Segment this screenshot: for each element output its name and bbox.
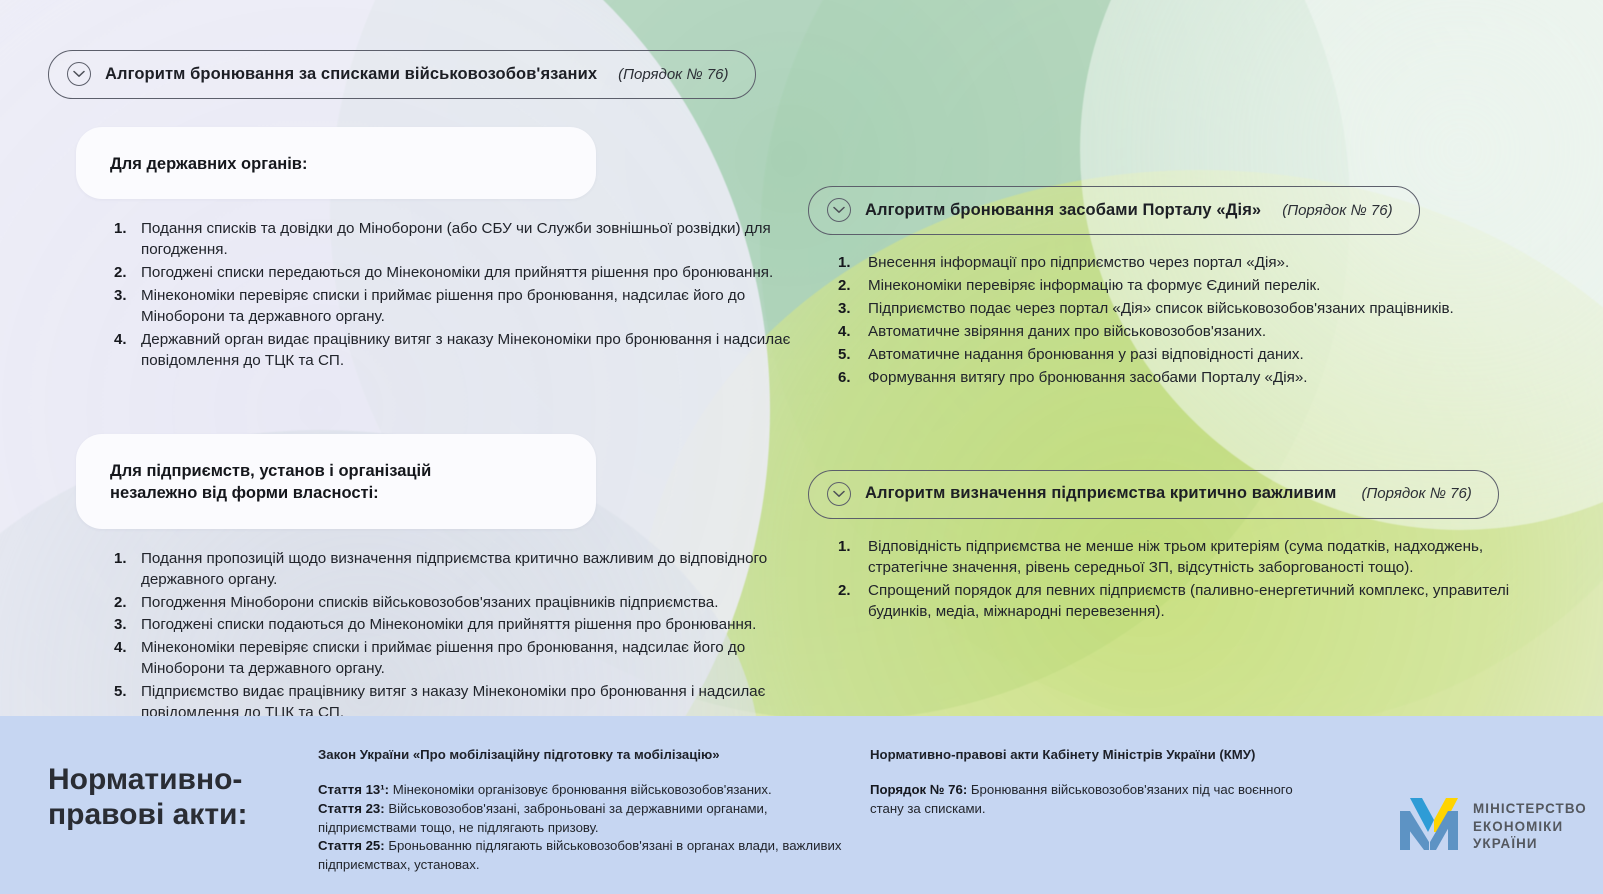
infographic-page: Алгоритм бронювання за списками військов… [0, 0, 1603, 894]
content-area: Алгоритм бронювання за списками військов… [0, 0, 1603, 894]
footer-column-heading: Закон України «Про мобілізаційну підгото… [318, 746, 858, 763]
footer-item-label: Стаття 13¹: [318, 782, 389, 797]
footer-column-heading: Нормативно-правові акти Кабінету Міністр… [870, 746, 1330, 763]
section-header-booking-via-diia[interactable]: Алгоритм бронювання засобами Порталу «Ді… [808, 186, 1420, 235]
footer-item: Порядок № 76: Бронювання військовозобов'… [870, 781, 1330, 818]
steps-booking-via-diia: Внесення інформації про підприємство чер… [838, 253, 1548, 389]
list-item: Мінекономіки перевіряє інформацію та фор… [838, 276, 1548, 297]
section-note: (Порядок № 76) [1282, 202, 1392, 219]
subcard-title: Для державних органів: [110, 153, 566, 175]
list-item: Внесення інформації про підприємство чер… [838, 253, 1548, 274]
footer-item-text: Броньованню підлягають військовозобов'яз… [318, 838, 841, 872]
footer-item: Стаття 13¹: Мінекономіки організовує бро… [318, 781, 858, 800]
chevron-down-icon[interactable] [827, 482, 851, 506]
chevron-down-icon[interactable] [67, 62, 91, 86]
list-item: Погоджені списки передаються до Мінеконо… [114, 263, 808, 284]
list-item: Погодження Міноборони списків військовоз… [114, 593, 808, 614]
footer-item-text: Військовозобов'язані, заброньовані за де… [318, 801, 768, 835]
footer-item-text: Мінекономіки організовує бронювання війс… [389, 782, 772, 797]
list-item: Мінекономіки перевіряє списки і приймає … [114, 286, 808, 328]
footer-item-label: Стаття 25: [318, 838, 385, 853]
footer-title: Нормативно- правові акти: [48, 762, 298, 833]
list-item: Мінекономіки перевіряє списки і приймає … [114, 638, 808, 680]
chevron-down-icon[interactable] [827, 198, 851, 222]
list-item: Спрощений порядок для певних підприємств… [838, 581, 1548, 623]
column-left: Алгоритм бронювання за списками військов… [48, 50, 808, 726]
footer-item: Стаття 25: Броньованню підлягають військ… [318, 837, 858, 874]
list-item: Підприємство подає через портал «Дія» сп… [838, 299, 1548, 320]
list-item: Подання списків та довідки до Міноборони… [114, 219, 808, 261]
footer-item: Стаття 23: Військовозобов'язані, забронь… [318, 800, 858, 837]
ministry-m-logo-icon [1400, 798, 1460, 855]
steps-critically-important: Відповідність підприємства не менше ніж … [838, 537, 1548, 623]
list-item: Подання пропозицій щодо визначення підпр… [114, 549, 808, 591]
list-item: Державний орган видає працівнику витяг з… [114, 330, 808, 372]
ministry-logo-text: МІНІСТЕРСТВО ЕКОНОМІКИ УКРАЇНИ [1473, 800, 1587, 853]
list-item: Автоматичне надання бронювання у разі ві… [838, 345, 1548, 366]
list-item: Автоматичне звіряння даних про військово… [838, 322, 1548, 343]
section-header-critically-important[interactable]: Алгоритм визначення підприємства критичн… [808, 470, 1499, 519]
section-note: (Порядок № 76) [1361, 485, 1471, 502]
column-right: Алгоритм бронювання засобами Порталу «Ді… [808, 186, 1548, 625]
steps-for-enterprises: Подання пропозицій щодо визначення підпр… [114, 549, 808, 725]
section-title: Алгоритм визначення підприємства критичн… [865, 484, 1336, 503]
subcard-title: Для підприємств, установ і організацій н… [110, 460, 566, 505]
section-title: Алгоритм бронювання засобами Порталу «Ді… [865, 201, 1261, 220]
list-item: Формування витягу про бронювання засобам… [838, 368, 1548, 389]
subcard-for-enterprises: Для підприємств, установ і організацій н… [76, 434, 596, 529]
footer-column-cmu-acts: Нормативно-правові акти Кабінету Міністр… [870, 746, 1330, 819]
section-title: Алгоритм бронювання за списками військов… [105, 65, 597, 84]
subcard-for-state-bodies: Для державних органів: [76, 127, 596, 199]
section-header-booking-by-lists[interactable]: Алгоритм бронювання за списками військов… [48, 50, 756, 99]
steps-for-state-bodies: Подання списків та довідки до Міноборони… [114, 219, 808, 372]
list-item: Погоджені списки подаються до Мінекономі… [114, 615, 808, 636]
footer-item-label: Стаття 23: [318, 801, 385, 816]
footer-legal-acts: Нормативно- правові акти: Закон України … [0, 716, 1603, 894]
ministry-logo: МІНІСТЕРСТВО ЕКОНОМІКИ УКРАЇНИ [1400, 798, 1587, 855]
section-note: (Порядок № 76) [618, 66, 728, 83]
footer-item-label: Порядок № 76: [870, 782, 967, 797]
list-item: Відповідність підприємства не менше ніж … [838, 537, 1548, 579]
footer-column-law-of-ukraine: Закон України «Про мобілізаційну підгото… [318, 746, 858, 875]
